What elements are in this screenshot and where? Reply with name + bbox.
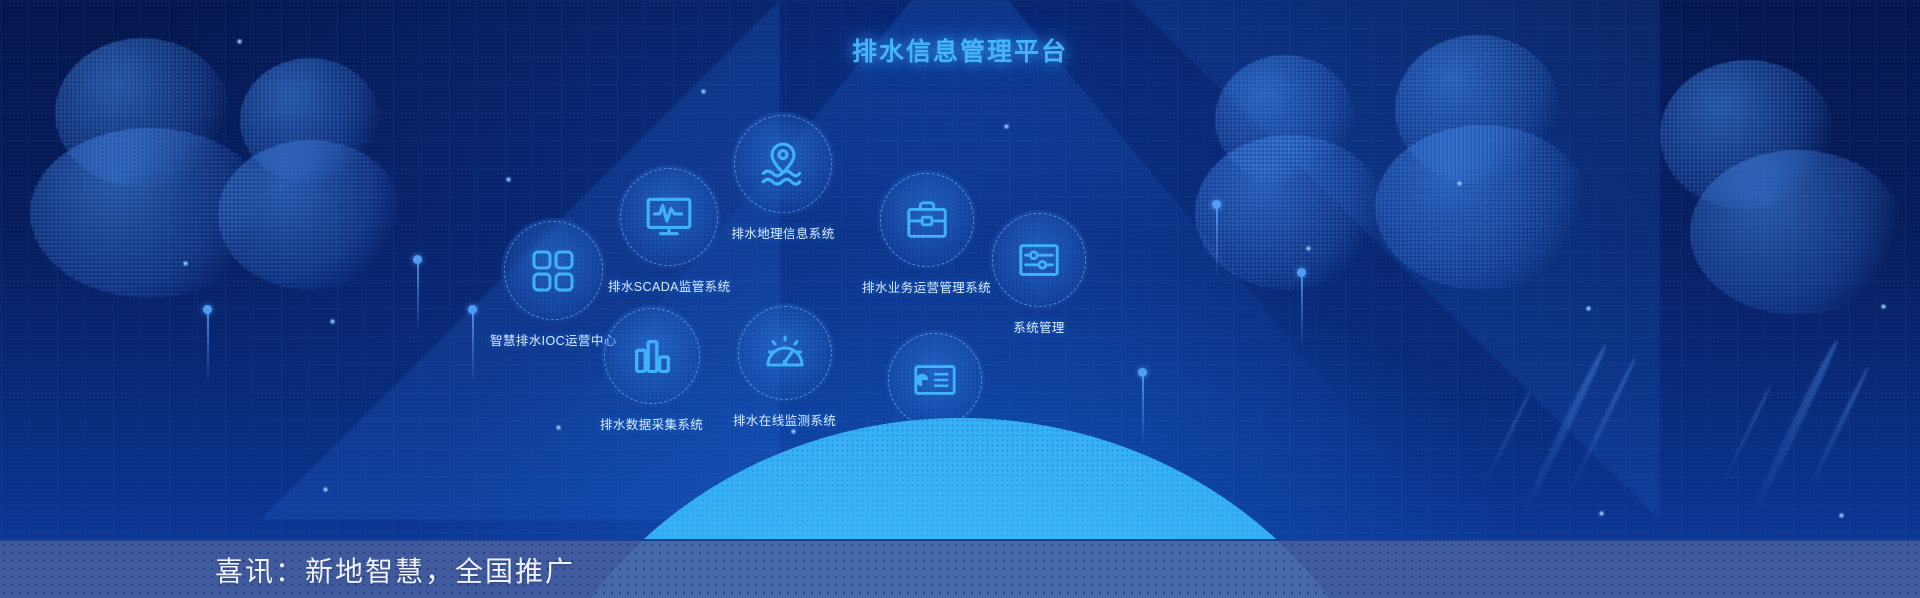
- decorative-dome-2: [30, 128, 270, 298]
- sparkle-dot: [1585, 305, 1592, 312]
- map-pin-marker: [413, 255, 422, 334]
- node-ioc[interactable]: 智慧排水IOC运营中心: [490, 218, 617, 349]
- sparkle-dot: [505, 176, 512, 183]
- grid-squares-icon: [529, 247, 577, 295]
- node-label: 排水SCADA监管系统: [608, 276, 730, 295]
- ticker-text: 喜讯：新地智慧，全国推广: [215, 550, 575, 590]
- node-system-management[interactable]: 系统管理: [989, 210, 1089, 336]
- map-pin-marker: [1212, 200, 1221, 279]
- monitor-waveform-icon: [644, 192, 694, 242]
- news-ticker-bar[interactable]: 喜讯：新地智慧，全国推广: [0, 539, 1920, 598]
- sliders-icon: [1016, 237, 1062, 283]
- sparkle-dot: [1838, 512, 1845, 519]
- node-label: 系统管理: [989, 317, 1089, 336]
- page-title: 排水信息管理平台: [0, 32, 1920, 68]
- node-data-collection[interactable]: 排水数据采集系统: [600, 305, 703, 433]
- map-pin-marker: [1138, 368, 1147, 447]
- node-label: 排水地理信息系统: [731, 223, 835, 242]
- map-pin-marker: [1297, 268, 1306, 347]
- light-beam-right: [1130, 0, 1660, 520]
- node-bubble[interactable]: [731, 112, 835, 216]
- node-bubble[interactable]: [735, 303, 835, 403]
- sparkle-dot: [329, 318, 336, 325]
- node-online-monitoring[interactable]: 排水在线监测系统: [733, 303, 836, 429]
- decorative-dome-5: [1215, 55, 1355, 183]
- briefcase-icon: [904, 197, 950, 243]
- node-label: 排水在线监测系统: [733, 410, 836, 429]
- node-label: 智慧排水IOC运营中心: [490, 330, 617, 349]
- node-gis[interactable]: 排水地理信息系统: [731, 112, 835, 242]
- decorative-dome-6: [1195, 135, 1385, 290]
- node-bubble[interactable]: [501, 218, 606, 323]
- map-pin-marker: [203, 305, 212, 384]
- map-pin-waves-icon: [758, 139, 808, 189]
- light-streak-3: [1748, 338, 1842, 517]
- sparkle-dot: [1598, 510, 1605, 517]
- node-ops[interactable]: 排水业务运营管理系统: [862, 170, 991, 296]
- map-pin-marker: [468, 305, 477, 384]
- sparkle-dot: [1880, 303, 1887, 310]
- node-bubble[interactable]: [617, 165, 721, 269]
- node-scada[interactable]: 排水SCADA监管系统: [608, 165, 730, 295]
- pie-list-icon: [912, 357, 958, 403]
- light-streak-1: [1519, 343, 1609, 517]
- bar-chart-icon: [629, 333, 675, 379]
- sparkle-dot: [322, 486, 329, 493]
- decorative-dome-9: [1660, 60, 1835, 210]
- node-bubble[interactable]: [877, 170, 977, 270]
- decorative-dome-3: [240, 58, 380, 183]
- scene-stage: 排水信息管理平台 智慧排水IOC运营中心 排水SCADA监管系统: [0, 0, 1920, 598]
- light-streak-2: [1567, 356, 1637, 493]
- sparkle-dot: [700, 88, 707, 95]
- sparkle-dot: [790, 428, 797, 435]
- sparkle-dot: [1305, 245, 1312, 252]
- sparkle-dot: [182, 260, 189, 267]
- node-label: 排水业务运营管理系统: [862, 277, 991, 296]
- node-bubble[interactable]: [989, 210, 1089, 310]
- node-bubble[interactable]: [885, 330, 985, 430]
- gauge-icon: [761, 329, 809, 377]
- node-bubble[interactable]: [601, 305, 703, 407]
- node-label: 排水数据采集系统: [600, 414, 703, 433]
- sparkle-dot: [1003, 123, 1010, 130]
- sparkle-dot: [1456, 180, 1463, 187]
- decorative-dome-8: [1375, 125, 1590, 290]
- decorative-dome-10: [1690, 150, 1905, 315]
- decorative-dome-4: [218, 140, 403, 290]
- light-streak-6: [1721, 385, 1772, 485]
- light-streak-5: [1481, 390, 1532, 490]
- sparkle-dot: [555, 424, 562, 431]
- light-streak-4: [1805, 366, 1871, 494]
